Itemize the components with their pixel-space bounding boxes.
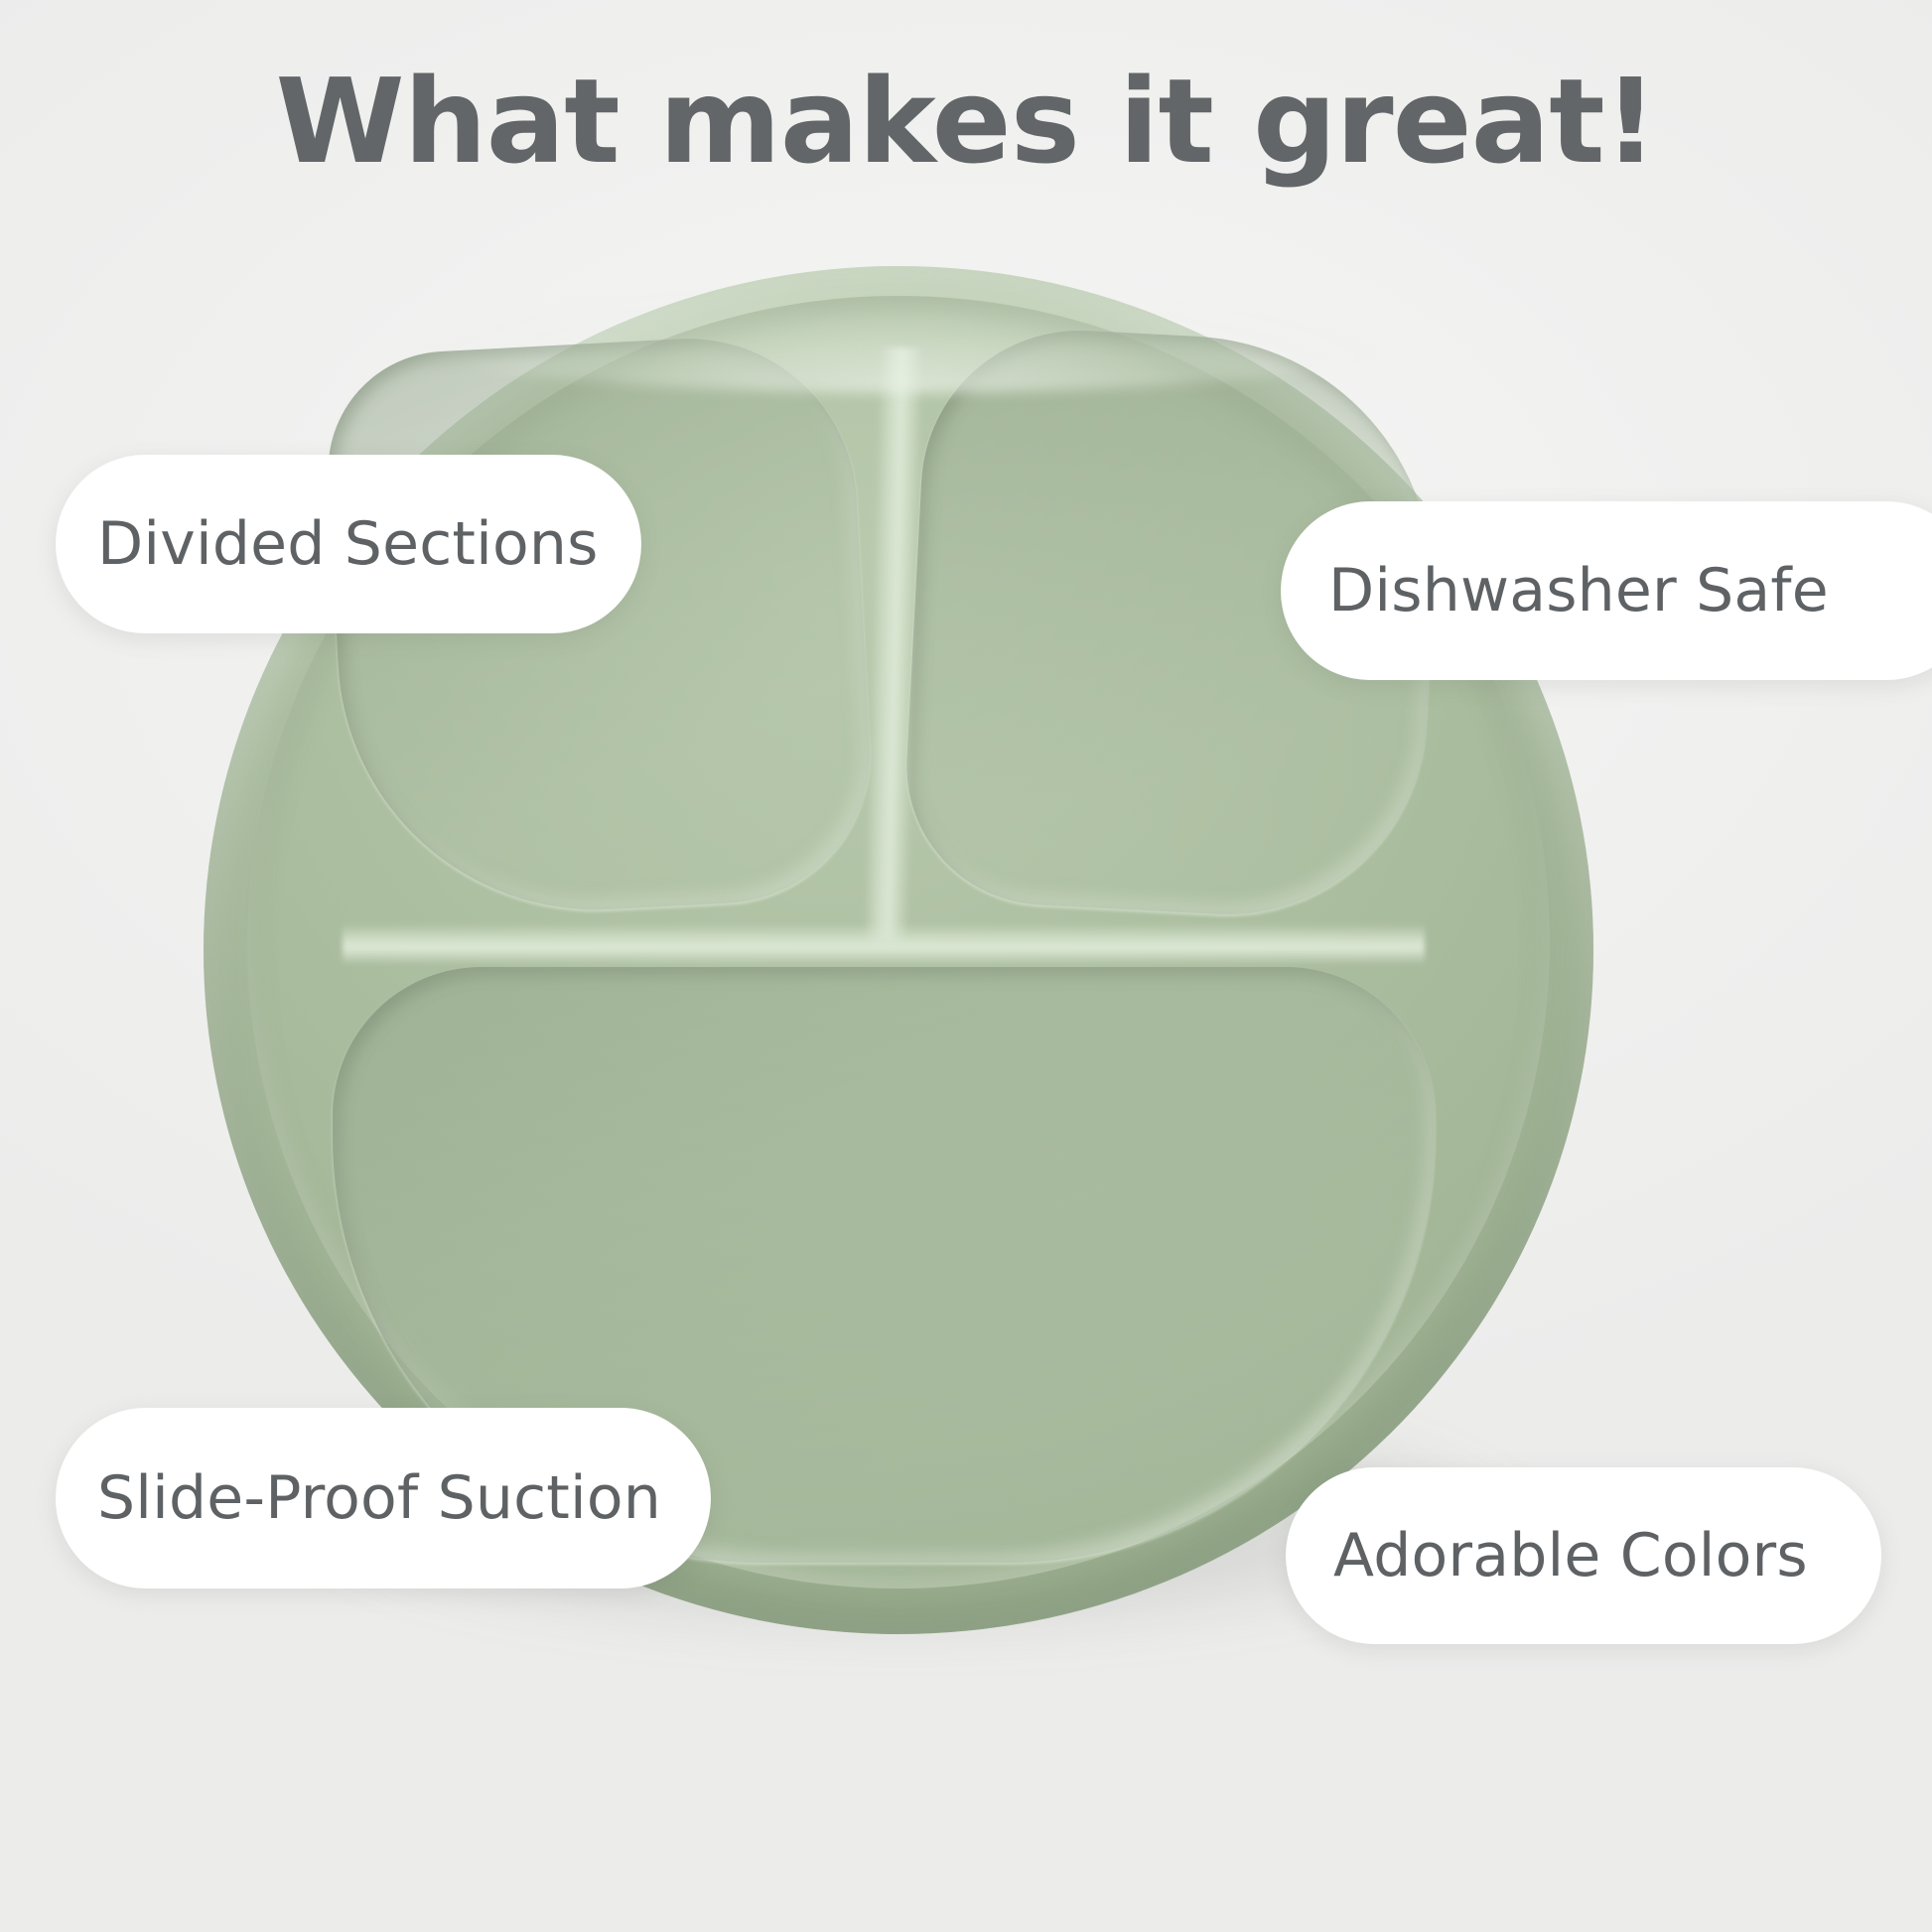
feature-label-slide-proof-suction: Slide-Proof Suction xyxy=(97,1468,661,1528)
feature-label-divided-sections: Divided Sections xyxy=(97,514,599,574)
page-title: What makes it great! xyxy=(0,58,1932,187)
feature-pill-dishwasher-safe[interactable]: Dishwasher Safe xyxy=(1281,501,1932,680)
divider-ridge-horizontal xyxy=(343,923,1425,965)
feature-label-adorable-colors: Adorable Colors xyxy=(1333,1526,1808,1586)
feature-graphic-canvas: What makes it great! Divided Sections Di… xyxy=(0,0,1932,1932)
feature-label-dishwasher-safe: Dishwasher Safe xyxy=(1328,561,1829,621)
feature-pill-adorable-colors[interactable]: Adorable Colors xyxy=(1286,1467,1881,1644)
feature-pill-divided-sections[interactable]: Divided Sections xyxy=(56,455,641,633)
plate-rim-highlight xyxy=(372,274,1435,393)
divider-ridge-vertical xyxy=(863,347,924,944)
feature-pill-slide-proof-suction[interactable]: Slide-Proof Suction xyxy=(56,1408,711,1588)
